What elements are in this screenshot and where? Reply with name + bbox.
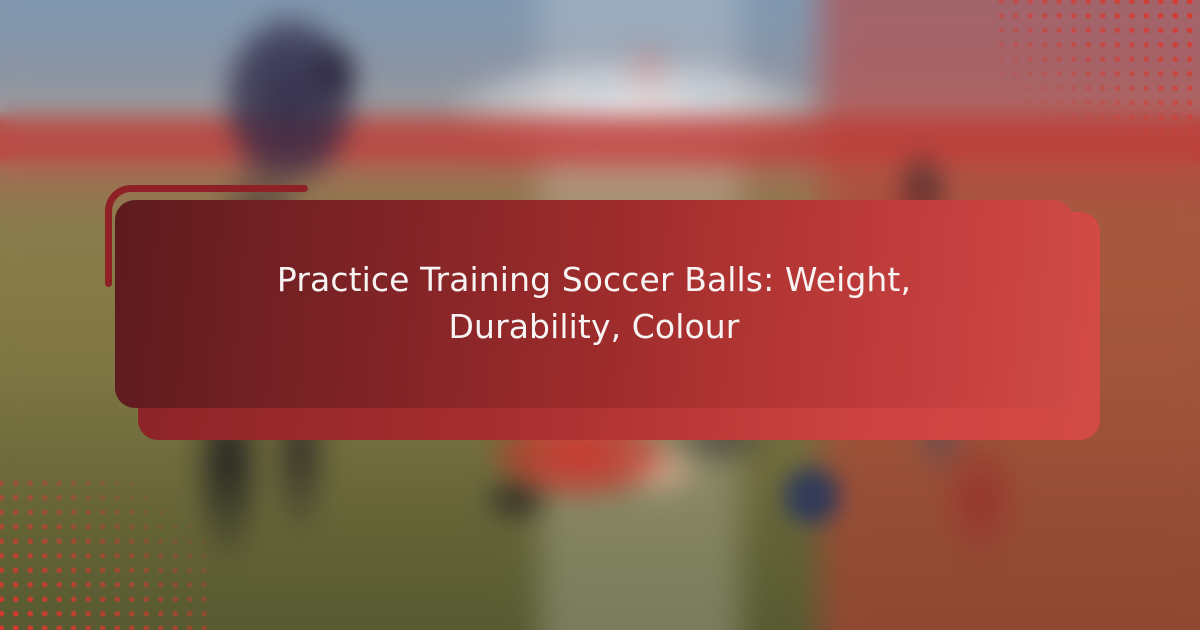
hero-canvas: Practice Training Soccer Balls: Weight, … xyxy=(0,0,1200,630)
page-title: Practice Training Soccer Balls: Weight, … xyxy=(264,257,924,351)
bracket-cap-bottom xyxy=(105,279,112,287)
bracket-cap-right xyxy=(300,185,308,192)
title-card: Practice Training Soccer Balls: Weight, … xyxy=(115,200,1073,408)
dot-pattern-top-right xyxy=(994,0,1200,132)
dot-pattern-bottom-left xyxy=(0,476,208,630)
